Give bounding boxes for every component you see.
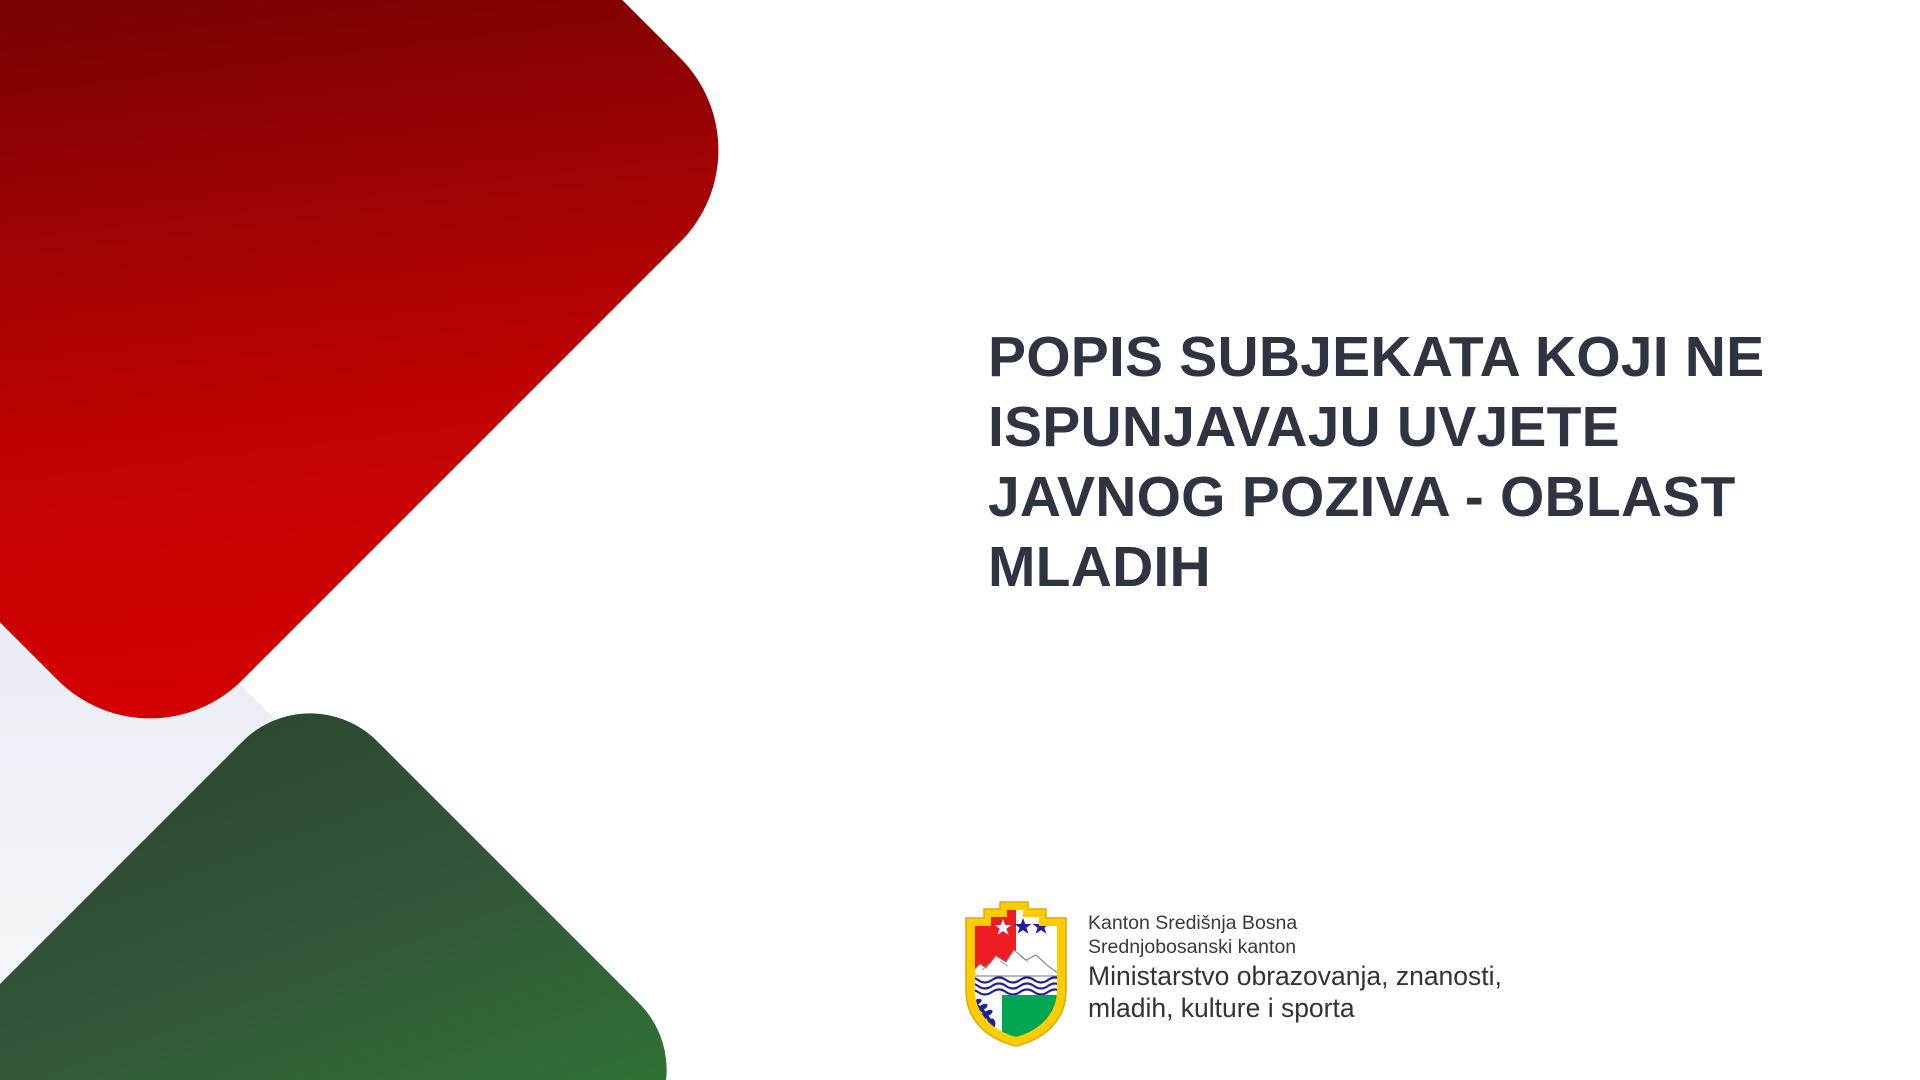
coat-of-arms-icon xyxy=(962,898,1070,1050)
ministry-name-line-2: mladih, kulture i sporta xyxy=(1088,992,1502,1025)
canton-name-hr: Kanton Središnja Bosna xyxy=(1088,912,1502,936)
title-block: POPIS SUBJEKATA KOJI NE ISPUNJAVAJU UVJE… xyxy=(988,322,1818,602)
canton-name-bs: Srednjobosanski kanton xyxy=(1088,936,1502,960)
presentation-slide: POPIS SUBJEKATA KOJI NE ISPUNJAVAJU UVJE… xyxy=(0,0,1920,1080)
ministry-logo-lockup: Kanton Središnja Bosna Srednjobosanski k… xyxy=(962,898,1502,1050)
ministry-name-line-1: Ministarstvo obrazovanja, znanosti, xyxy=(1088,960,1502,993)
ministry-text-block: Kanton Središnja Bosna Srednjobosanski k… xyxy=(1088,898,1502,1025)
slide-title: POPIS SUBJEKATA KOJI NE ISPUNJAVAJU UVJE… xyxy=(988,322,1818,602)
grey-rounded-diamond-shape xyxy=(0,424,376,1080)
green-rounded-diamond-shape xyxy=(0,674,706,1080)
red-rounded-diamond-shape xyxy=(0,0,772,772)
